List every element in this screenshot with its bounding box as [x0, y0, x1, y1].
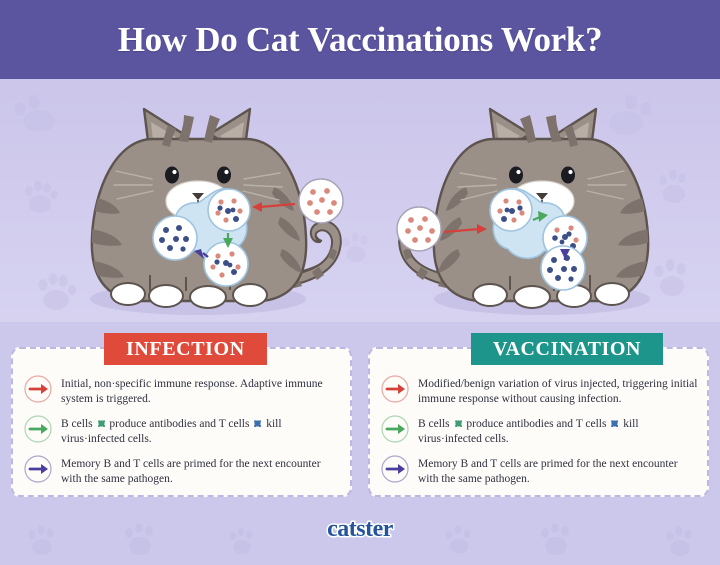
infection-banner: INFECTION: [104, 333, 267, 365]
infection-bullet-list: Initial, non·specific immune response. A…: [23, 375, 342, 486]
green-cell-glyph: [97, 419, 106, 428]
red-arrow-circle-icon: [380, 374, 410, 404]
bullet-text: Memory B and T cells are primed for the …: [418, 455, 699, 486]
bullet-item: B cells produce antibodies and T cells k…: [380, 415, 699, 446]
page-title: How Do Cat Vaccinations Work?: [118, 20, 603, 60]
catster-logo: catster: [0, 516, 720, 543]
vaccination-cat-illustration: [352, 79, 682, 322]
infection-panel: Initial, non·specific immune response. A…: [11, 347, 352, 497]
bullet-text: Modified/benign variation of virus injec…: [418, 375, 699, 406]
modified-virus-circle: [397, 207, 441, 251]
header-band: How Do Cat Vaccinations Work?: [0, 0, 720, 79]
infection-banner-label: INFECTION: [126, 338, 245, 361]
bullet-text: Memory B and T cells are primed for the …: [61, 455, 342, 486]
infected-cell-cluster: [208, 189, 250, 231]
virus-particle-circle: [299, 179, 343, 223]
bullet-item: Memory B and T cells are primed for the …: [23, 455, 342, 486]
injected-cell-cluster: [490, 189, 532, 231]
purple-arrow-circle-icon: [23, 454, 53, 484]
bullet-item: Initial, non·specific immune response. A…: [23, 375, 342, 406]
bullet-text: Initial, non·specific immune response. A…: [61, 375, 342, 406]
bullet-item: Modified/benign variation of virus injec…: [380, 375, 699, 406]
green-arrow-circle-icon: [23, 414, 53, 444]
red-arrow-circle-icon: [23, 374, 53, 404]
green-arrow-circle-icon: [380, 414, 410, 444]
bullet-item: B cells produce antibodies and T cells k…: [23, 415, 342, 446]
paw-print-decoration: [18, 175, 62, 219]
green-cell-glyph: [454, 419, 463, 428]
bullet-text: B cells produce antibodies and T cells k…: [418, 415, 699, 446]
infection-cat-illustration: [58, 79, 388, 322]
vaccination-banner: VACCINATION: [471, 333, 663, 365]
antibody-cell-cluster: [204, 242, 248, 286]
footer-band: catster: [0, 497, 720, 565]
purple-arrow-circle-icon: [380, 454, 410, 484]
vaccination-banner-label: VACCINATION: [493, 338, 641, 361]
memory-cell-cluster: [153, 216, 197, 260]
paw-print-decoration: [6, 93, 66, 139]
vaccination-bullet-list: Modified/benign variation of virus injec…: [380, 375, 699, 486]
bullet-item: Memory B and T cells are primed for the …: [380, 455, 699, 486]
infographic-page: How Do Cat Vaccinations Work?: [0, 0, 720, 565]
illustration-stage: [0, 79, 720, 322]
bullet-text: B cells produce antibodies and T cells k…: [61, 415, 342, 446]
blue-cell-glyph: [610, 419, 619, 428]
blue-cell-glyph: [253, 419, 262, 428]
vaccination-panel: Modified/benign variation of virus injec…: [368, 347, 709, 497]
